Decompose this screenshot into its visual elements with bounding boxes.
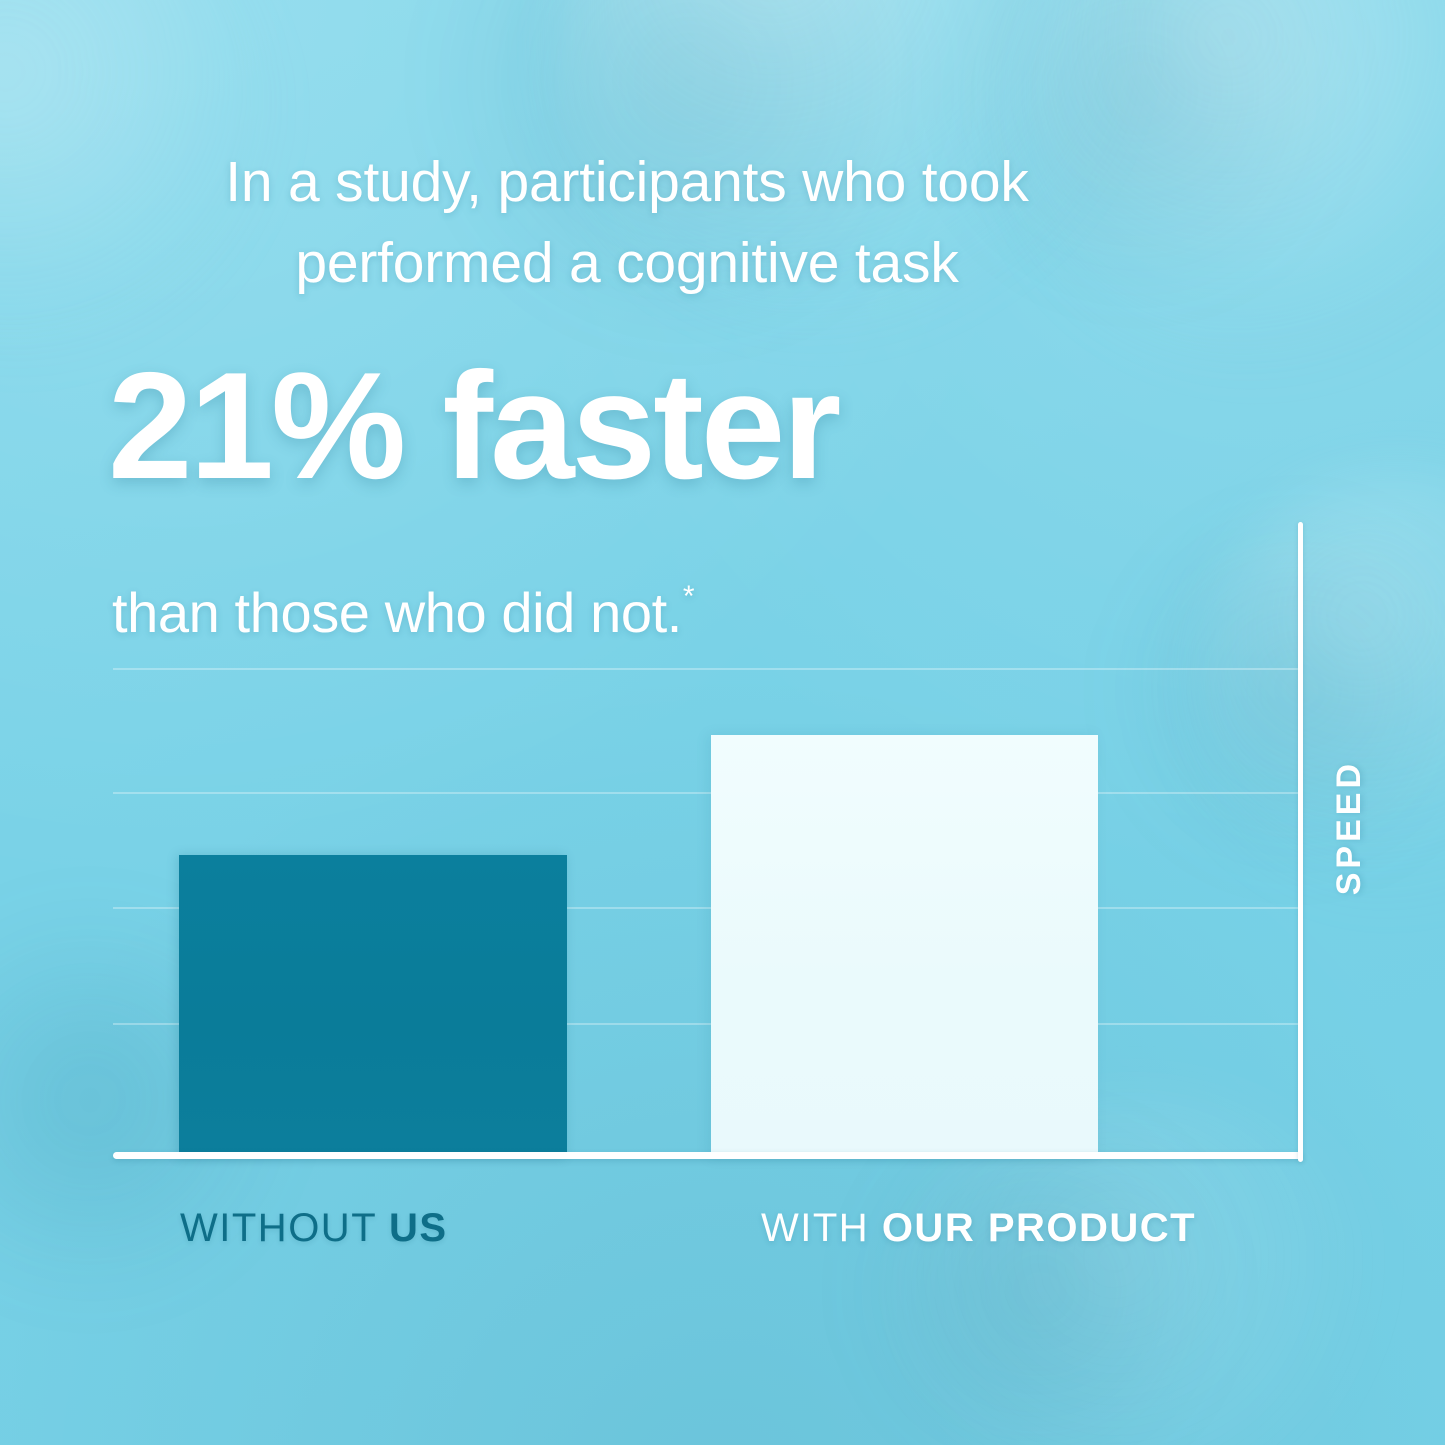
subline: than those who did not.*	[112, 585, 694, 641]
headline-line-2: performed a cognitive task	[92, 223, 1162, 304]
headline-line-1: In a study, participants who took	[225, 150, 1028, 214]
infographic-canvas: SPEED WITHOUT US WITH OUR PRODUCT In a s…	[0, 0, 1445, 1445]
headline: In a study, participants who took perfor…	[92, 142, 1162, 304]
subline-text: than those who did not.	[112, 581, 682, 644]
footnote-asterisk: *	[683, 580, 694, 613]
copy-block: In a study, participants who took perfor…	[0, 0, 1445, 1445]
hero-statistic: 21% faster	[108, 350, 838, 502]
